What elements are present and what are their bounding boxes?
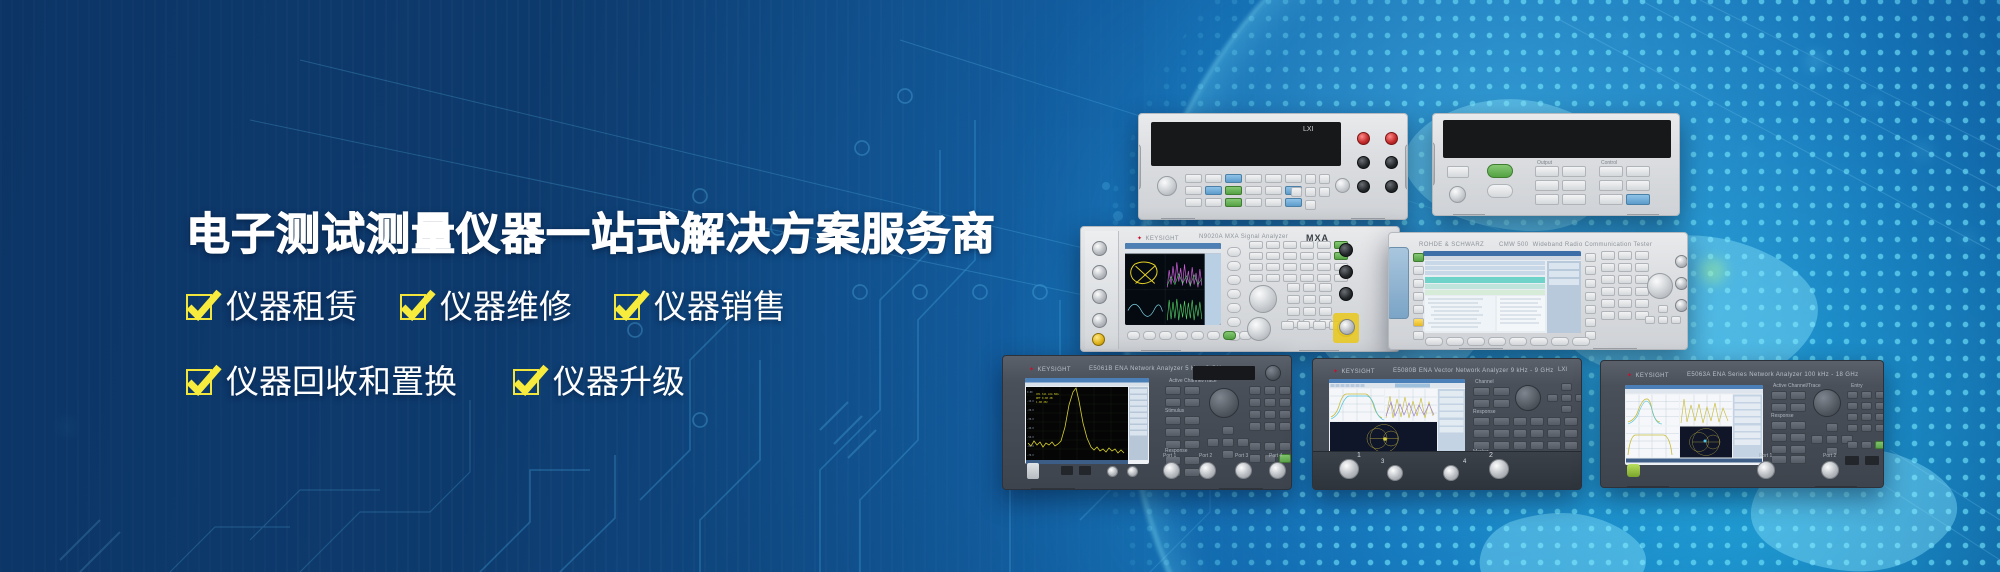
checkbox-checked-icon: [186, 369, 212, 395]
svg-text:-50.0: -50.0: [1027, 436, 1034, 439]
tester-display: [1423, 251, 1581, 333]
svg-text:-70.0: -70.0: [1027, 454, 1034, 457]
analyzer-display: [1125, 243, 1221, 325]
svg-text:CH1 S11 LOG MAG: CH1 S11 LOG MAG: [1036, 392, 1059, 396]
feature-item-instrument-recycling-and-trade-in[interactable]: 仪器回收和置换: [186, 365, 457, 398]
feature-list: 仪器租赁 仪器维修 仪器销售: [186, 290, 786, 398]
instrument-signal-analyzer-mxa: ✦KEYSIGHT N9020A MXA Signal Analyzer MXA: [1080, 226, 1400, 352]
checkbox-checked-icon: [513, 369, 539, 395]
svg-text:-10.0: -10.0: [1027, 400, 1034, 403]
feature-item-instrument-rental[interactable]: 仪器租赁: [186, 290, 358, 323]
feature-label: 仪器回收和置换: [226, 365, 457, 398]
svg-text:0.00: 0.00: [1027, 391, 1033, 394]
feature-label: 仪器租赁: [226, 290, 358, 323]
feature-item-instrument-upgrade[interactable]: 仪器升级: [513, 365, 685, 398]
svg-text:-30.0: -30.0: [1027, 418, 1034, 421]
checkbox-checked-icon: [614, 294, 640, 320]
network-analyzer-display-right: [1625, 385, 1763, 465]
banner-content: 电子测试测量仪器一站式解决方案服务商 仪器租赁: [0, 0, 1000, 572]
svg-text:-60.0: -60.0: [1027, 445, 1034, 448]
feature-row-1: 仪器租赁 仪器维修 仪器销售: [186, 290, 786, 323]
svg-text:1.00 dB/: 1.00 dB/: [1036, 400, 1049, 404]
svg-text:-40.0: -40.0: [1027, 427, 1034, 430]
instrument-network-analyzer-center: ✦KEYSIGHT E5080B ENA Vector Network Anal…: [1312, 358, 1582, 490]
feature-item-instrument-sales[interactable]: 仪器销售: [614, 290, 786, 323]
checkbox-checked-icon: [186, 294, 212, 320]
svg-text:-20.0: -20.0: [1027, 409, 1034, 412]
feature-label: 仪器升级: [553, 365, 685, 398]
instrument-radio-communication-tester: ROHDE & SCHWARZ CMW 500 Wideband Radio C…: [1388, 232, 1688, 350]
instrument-network-analyzer-left: ✦KEYSIGHT E5061B ENA Network Analyzer 5 …: [1002, 355, 1292, 490]
hero-banner: ✦KEYSIGHT 34465A 6½ Digit Multimeter LXI: [0, 0, 2000, 572]
svg-text:REF 0.00 dB: REF 0.00 dB: [1036, 396, 1053, 400]
instrument-cluster: ✦KEYSIGHT 34465A 6½ Digit Multimeter LXI: [940, 0, 2000, 572]
feature-row-2: 仪器回收和置换 仪器升级: [186, 365, 786, 398]
network-analyzer-display-left: CH1 S11 LOG MAG REF 0.00 dB 1.00 dB/ 0.0…: [1025, 378, 1149, 464]
feature-label: 仪器维修: [440, 290, 572, 323]
feature-label: 仪器销售: [654, 290, 786, 323]
feature-item-instrument-repair[interactable]: 仪器维修: [400, 290, 572, 323]
page-title: 电子测试测量仪器一站式解决方案服务商: [186, 213, 996, 257]
checkbox-checked-icon: [400, 294, 426, 320]
instrument-digital-multimeter: ✦KEYSIGHT 34465A 6½ Digit Multimeter LXI: [1138, 113, 1408, 220]
instrument-network-analyzer-right: ✦KEYSIGHT E5063A ENA Series Network Anal…: [1600, 360, 1884, 488]
network-analyzer-display-center: [1329, 379, 1465, 459]
instrument-dc-power-supply: ✦KEYSIGHT E36731A Basic Programmable DC …: [1432, 113, 1680, 216]
